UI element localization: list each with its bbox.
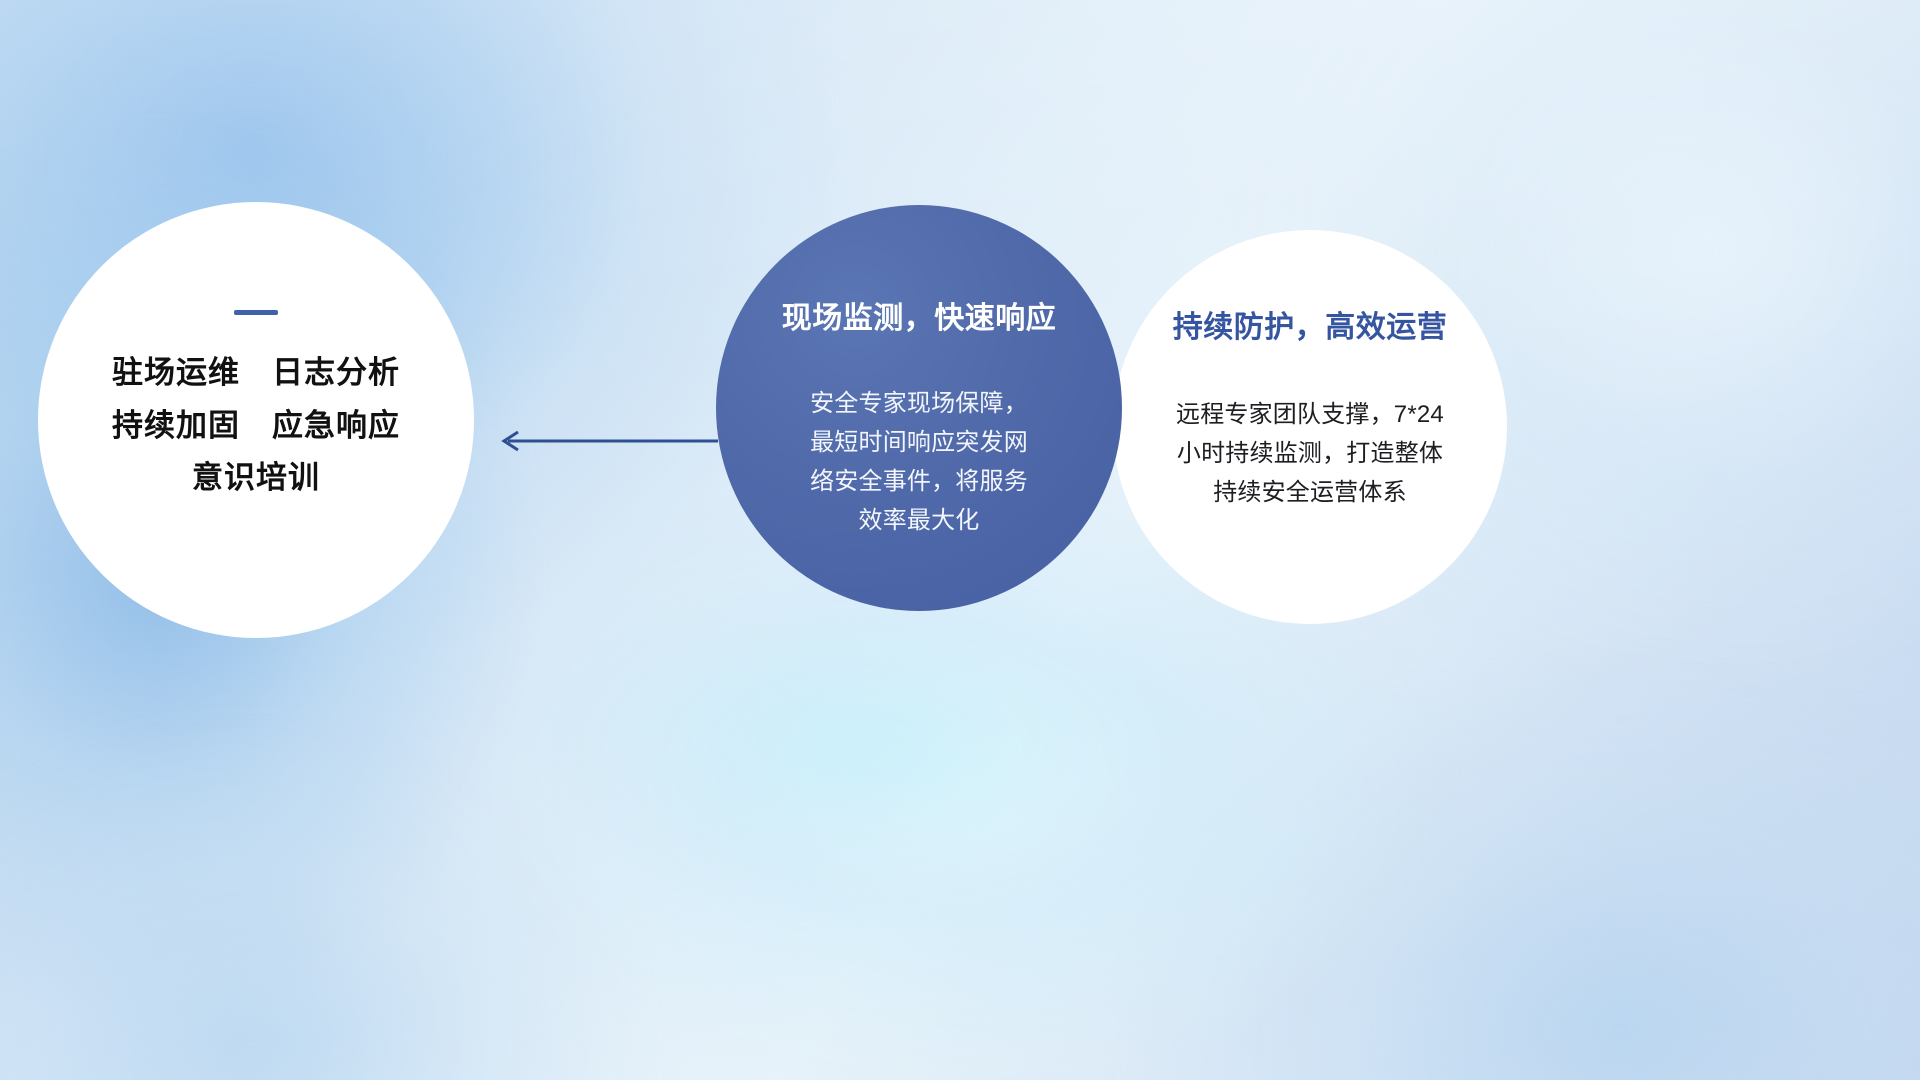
list-item: 驻场运维 日志分析: [112, 357, 400, 390]
horizontal-dash-divider-icon: [234, 310, 278, 315]
slide-canvas: 驻场运维 日志分析 持续加固 应急响应 意识培训 现场监测，快速响应 安全专家现…: [0, 0, 1920, 1080]
body-line: 最短时间响应突发网: [784, 424, 1054, 463]
list-item: 意识培训: [192, 462, 320, 495]
connector-arrow: [492, 424, 718, 458]
list-item: 持续加固 应急响应: [112, 410, 400, 443]
body-line: 络安全事件，将服务: [784, 463, 1054, 502]
right-continuous-protection-circle[interactable]: 持续防护，高效运营 远程专家团队支撑，7*24 小时持续监测，打造整体 持续安全…: [1113, 230, 1507, 624]
right-card-heading: 持续防护，高效运营: [1173, 302, 1448, 346]
right-card-body: 远程专家团队支撑，7*24 小时持续监测，打造整体 持续安全运营体系: [1145, 396, 1475, 513]
left-capability-list: 驻场运维 日志分析 持续加固 应急响应 意识培训: [112, 357, 400, 495]
body-line: 效率最大化: [784, 502, 1054, 541]
middle-card-heading: 现场监测，快速响应: [782, 293, 1057, 337]
body-line: 小时持续监测，打造整体: [1145, 435, 1475, 474]
body-line: 持续安全运营体系: [1145, 474, 1475, 513]
middle-card-body: 安全专家现场保障， 最短时间响应突发网 络安全事件，将服务 效率最大化: [784, 385, 1054, 541]
body-line: 远程专家团队支撑，7*24: [1145, 396, 1475, 435]
body-line: 安全专家现场保障，: [784, 385, 1054, 424]
middle-onsite-monitoring-circle[interactable]: 现场监测，快速响应 安全专家现场保障， 最短时间响应突发网 络安全事件，将服务 …: [716, 205, 1122, 611]
left-capability-circle[interactable]: 驻场运维 日志分析 持续加固 应急响应 意识培训: [38, 202, 474, 638]
arrow-left-icon: [492, 424, 718, 458]
